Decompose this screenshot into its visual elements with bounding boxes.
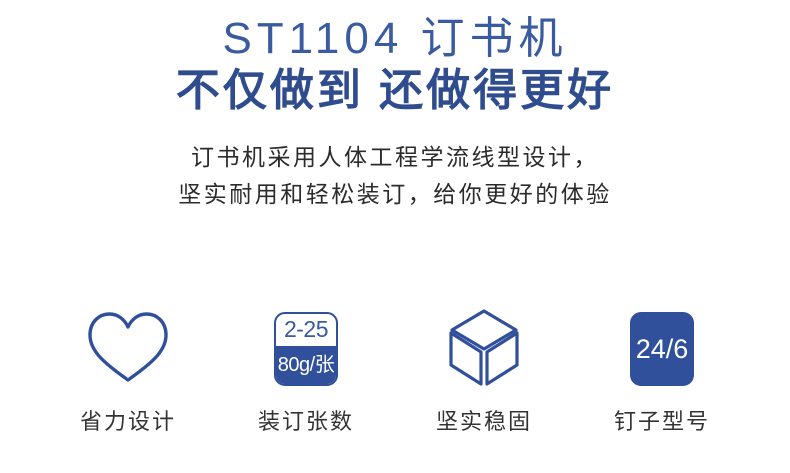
feature-item-sturdiness: 坚实稳固 — [395, 305, 573, 433]
badge-top-value: 2-25 — [276, 314, 336, 346]
feature-list: 省力设计 2-25 80g/张 装订张数 — [0, 305, 790, 433]
headline-block: ST1104 订书机 不仅做到 还做得更好 — [0, 14, 790, 117]
heart-icon — [86, 309, 170, 390]
page-title-line-2: 不仅做到 还做得更好 — [0, 65, 790, 117]
subtitle-line-2: 坚实耐用和轻松装订，给你更好的体验 — [0, 176, 790, 213]
badge-bottom-value: 80g/张 — [276, 346, 336, 385]
feature-item-effort-saving: 省力设计 — [39, 305, 217, 433]
feature-label: 钉子型号 — [614, 411, 710, 433]
badge-value: 24/6 — [636, 334, 689, 365]
subtitle-block: 订书机采用人体工程学流线型设计， 坚实耐用和轻松装订，给你更好的体验 — [0, 139, 790, 214]
sheet-capacity-badge-icon: 2-25 80g/张 — [274, 312, 338, 386]
feature-item-sheet-capacity: 2-25 80g/张 装订张数 — [217, 305, 395, 433]
feature-item-staple-size: 24/6 钉子型号 — [573, 305, 751, 433]
feature-icon-wrapper — [442, 305, 526, 393]
feature-icon-wrapper: 2-25 80g/张 — [274, 305, 338, 393]
feature-label: 坚实稳固 — [436, 411, 532, 433]
staple-size-badge-icon: 24/6 — [630, 312, 694, 386]
subtitle-line-1: 订书机采用人体工程学流线型设计， — [0, 139, 790, 176]
page-title-line-1: ST1104 订书机 — [0, 14, 790, 63]
feature-label: 省力设计 — [80, 411, 176, 433]
feature-icon-wrapper: 24/6 — [630, 305, 694, 393]
product-feature-banner: ST1104 订书机 不仅做到 还做得更好 订书机采用人体工程学流线型设计， 坚… — [0, 0, 790, 473]
feature-icon-wrapper — [86, 305, 170, 393]
cube-icon — [442, 305, 526, 394]
feature-label: 装订张数 — [258, 411, 354, 433]
